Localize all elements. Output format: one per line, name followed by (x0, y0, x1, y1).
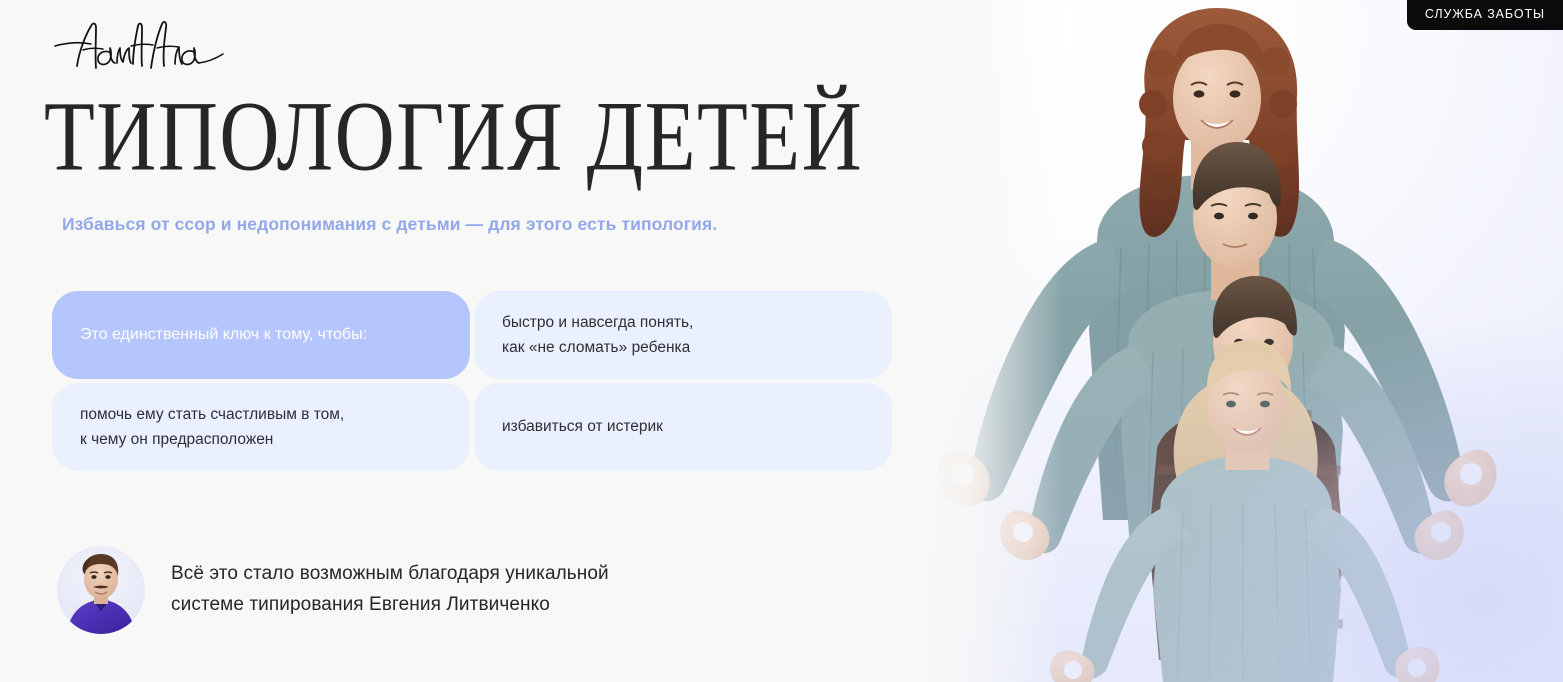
benefit-card-3: помочь ему стать счастливым в том, к чем… (52, 383, 470, 471)
benefit-card-1-text: Это единственный ключ к тому, чтобы: (80, 322, 367, 348)
acantha-signature-icon (47, 18, 237, 78)
benefit-card-4: избавиться от истерик (474, 383, 892, 471)
author-strip: Всё это стало возможным благодаря уникал… (57, 546, 609, 634)
avatar (57, 546, 145, 634)
benefit-card-3-text: помочь ему стать счастливым в том, к чем… (80, 402, 344, 452)
author-portrait-icon (57, 546, 145, 634)
brand-logo[interactable] (47, 18, 237, 78)
hero-photo (913, 0, 1563, 682)
benefit-card-2: быстро и навсегда понять, как «не сломат… (474, 291, 892, 379)
page-title: ТИПОЛОГИЯ ДЕТЕЙ (44, 88, 863, 187)
landing-page: СЛУЖБА ЗАБОТЫ ТИПОЛОГИЯ ДЕТЕЙ Избавься о… (0, 0, 1563, 682)
page-subtitle: Избавься от ссор и недопонимания с детьм… (62, 214, 717, 235)
author-description: Всё это стало возможным благодаря уникал… (171, 559, 609, 621)
family-meditation-illustration (913, 0, 1563, 682)
benefit-card-1: Это единственный ключ к тому, чтобы: (52, 291, 470, 379)
benefit-card-2-text: быстро и навсегда понять, как «не сломат… (502, 310, 693, 360)
care-service-badge[interactable]: СЛУЖБА ЗАБОТЫ (1407, 0, 1563, 30)
benefit-card-4-text: избавиться от истерик (502, 414, 663, 439)
benefits-grid: Это единственный ключ к тому, чтобы: быс… (52, 291, 892, 471)
